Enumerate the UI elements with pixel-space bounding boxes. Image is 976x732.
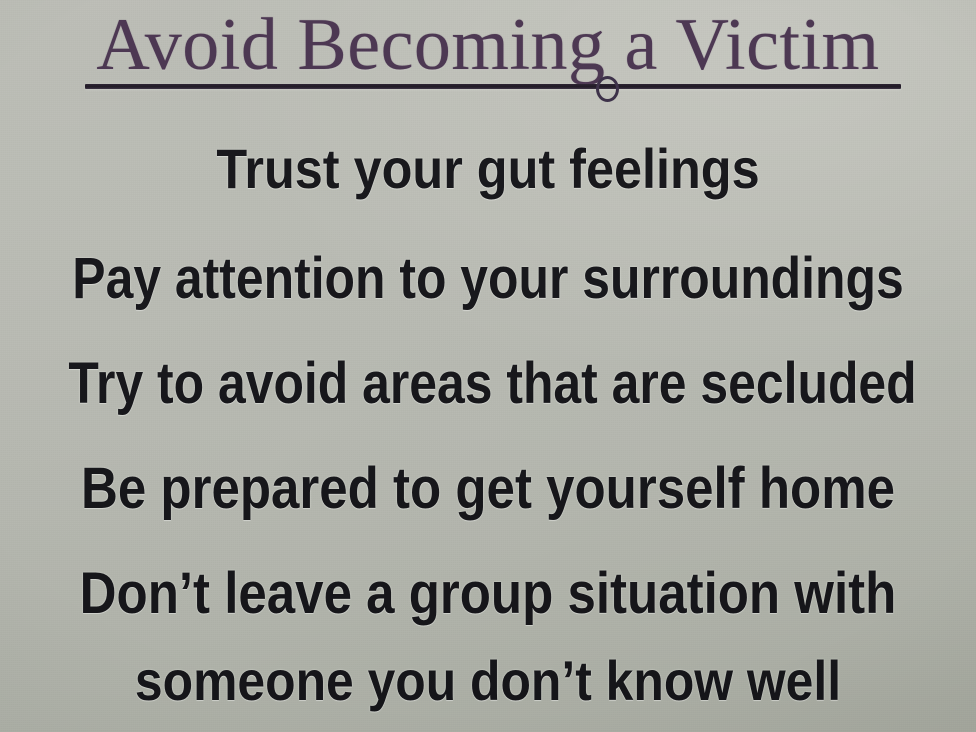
safety-sign-photograph: Avoid Becoming a Victim Trust your gut f… [0, 0, 976, 732]
sign-line-1: Trust your gut feelings [49, 140, 927, 198]
descender-loop-mark [596, 76, 619, 102]
title-underline-rule [85, 84, 901, 89]
sign-line-2: Pay attention to your surroundings [68, 250, 907, 308]
sign-title-block: Avoid Becoming a Victim [0, 6, 976, 84]
sign-title: Avoid Becoming a Victim [96, 6, 879, 84]
sign-line-3: Try to avoid areas that are secluded [68, 355, 907, 413]
sign-line-5: Don’t leave a group situation with [59, 565, 918, 623]
sign-line-4: Be prepared to get yourself home [59, 460, 918, 518]
sign-line-6: someone you don’t know well [54, 652, 923, 710]
sign-content: Avoid Becoming a Victim Trust your gut f… [0, 0, 976, 732]
